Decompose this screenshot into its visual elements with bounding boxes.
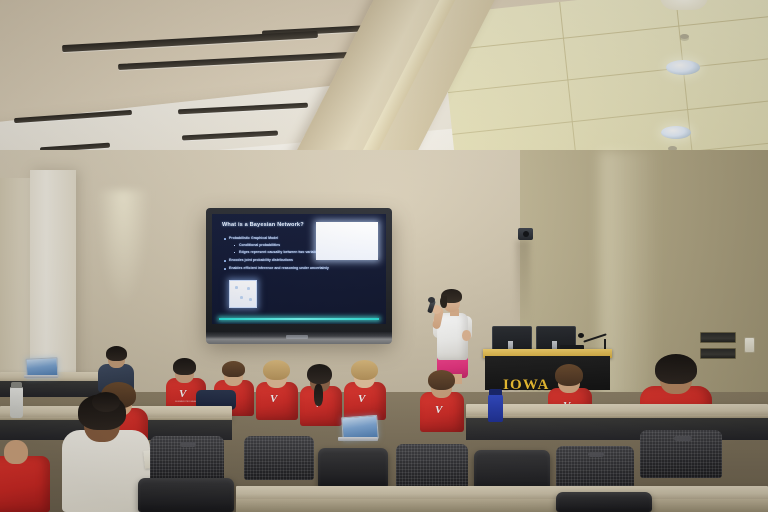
slide-title: What is a Bayesian Network?: [222, 222, 304, 228]
desk-edge: [236, 499, 768, 512]
wall-downlight: [96, 190, 150, 310]
chair[interactable]: [138, 478, 234, 512]
student-hair-braid: [314, 384, 323, 406]
gooseneck-mic-head-icon: [578, 333, 584, 338]
recessed-light: [666, 60, 700, 75]
chair-handle: [588, 452, 604, 457]
shirt-logo-icon: V: [358, 393, 365, 405]
slide-image-panel: [316, 222, 378, 260]
student-torso: [0, 456, 50, 512]
microphone-head-icon: [428, 297, 435, 303]
lecture-hall-photo: What is a Bayesian Network? Probabilisti…: [0, 0, 768, 512]
recessed-light: [661, 126, 691, 139]
chair[interactable]: [556, 492, 652, 512]
chair[interactable]: [396, 444, 468, 488]
chair-handle: [180, 442, 196, 447]
white-water-bottle[interactable]: [10, 386, 23, 418]
chair[interactable]: [318, 448, 388, 488]
presenter-hair: [440, 296, 447, 308]
bottle-cap: [11, 382, 22, 388]
slide-screen: What is a Bayesian Network? Probabilisti…: [212, 214, 386, 324]
camera-shadow: [516, 240, 530, 326]
slide-bullet: Conditional probabilities: [239, 243, 280, 247]
slide-bullet: Encodes joint probability distributions: [229, 258, 293, 262]
student-hair: [222, 361, 245, 377]
slide-network-diagram: [229, 280, 257, 308]
wall-speaker-panel: [700, 348, 736, 359]
display-brand-logo: [286, 335, 308, 339]
desk-panel: [466, 418, 768, 440]
laptop-base: [24, 375, 58, 378]
desk-row: [236, 486, 768, 500]
shirt-logo-subtext: SUMMER PROGRAM: [175, 401, 197, 403]
student-hair: [555, 364, 583, 386]
chair[interactable]: [244, 436, 314, 480]
student-head: [4, 440, 28, 464]
student-torso: [62, 430, 150, 512]
laptop-base: [338, 437, 378, 441]
student-torso: V: [420, 392, 464, 432]
wall-display[interactable]: What is a Bayesian Network? Probabilisti…: [206, 208, 392, 340]
student-hair: [106, 346, 127, 361]
shirt-logo-icon: V: [270, 393, 277, 405]
shirt-logo-icon: V: [435, 404, 442, 416]
presenter-hand: [462, 330, 471, 341]
slide-bullet: Probabilistic Graphical Model: [229, 236, 278, 240]
sprinkler-icon: [680, 34, 689, 39]
wall-speaker-panel: [700, 332, 736, 343]
slide-accent-bar: [219, 318, 379, 320]
student-hair: [173, 358, 196, 375]
bottle-cap: [489, 389, 502, 395]
light-switch[interactable]: [744, 337, 755, 353]
blue-water-bottle[interactable]: [488, 394, 503, 422]
student-hair: [263, 360, 290, 380]
slide-bullet: Edges represent causality between two va…: [239, 250, 321, 254]
student-hair: [307, 364, 332, 384]
student-hair: [428, 370, 455, 390]
camera-lens-icon: [523, 231, 529, 237]
student-hair: [351, 360, 378, 380]
chair-handle: [674, 436, 692, 441]
slide-bullet: Enables efficient inference and reasonin…: [229, 266, 329, 270]
student-hair: [655, 354, 697, 384]
shirt-logo-icon: V: [179, 388, 186, 400]
student-hair-bun: [92, 392, 120, 412]
